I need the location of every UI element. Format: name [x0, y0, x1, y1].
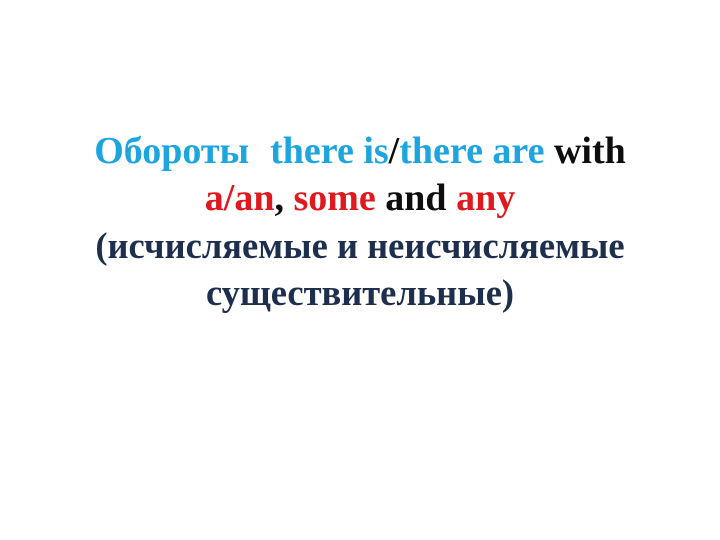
- article-a-an: a/an: [205, 177, 275, 219]
- title-line-2: a/an, some and any: [0, 175, 720, 222]
- parenthetical-part-2: существительные): [206, 272, 514, 313]
- phrase-there-is: there is: [270, 130, 389, 172]
- word-and: and: [385, 177, 446, 219]
- slash-separator: /: [389, 130, 400, 172]
- title-line-1: Обороты there is/there are with: [0, 128, 720, 175]
- slide-canvas: Обороты there is/there are with a/an, so…: [0, 0, 720, 540]
- slide-title-block: Обороты there is/there are with a/an, so…: [0, 128, 720, 316]
- title-line-4: существительные): [0, 269, 720, 316]
- comma-separator: ,: [274, 177, 284, 219]
- determiner-any: any: [456, 177, 515, 219]
- word-with: with: [554, 130, 626, 172]
- term-oboroty: Обороты: [94, 130, 249, 172]
- phrase-there-are: there are: [399, 130, 544, 172]
- determiner-some: some: [293, 177, 375, 219]
- title-line-3: (исчисляемые и неисчисляемые: [0, 222, 720, 269]
- parenthetical-part-1: (исчисляемые и неисчисляемые: [95, 225, 624, 266]
